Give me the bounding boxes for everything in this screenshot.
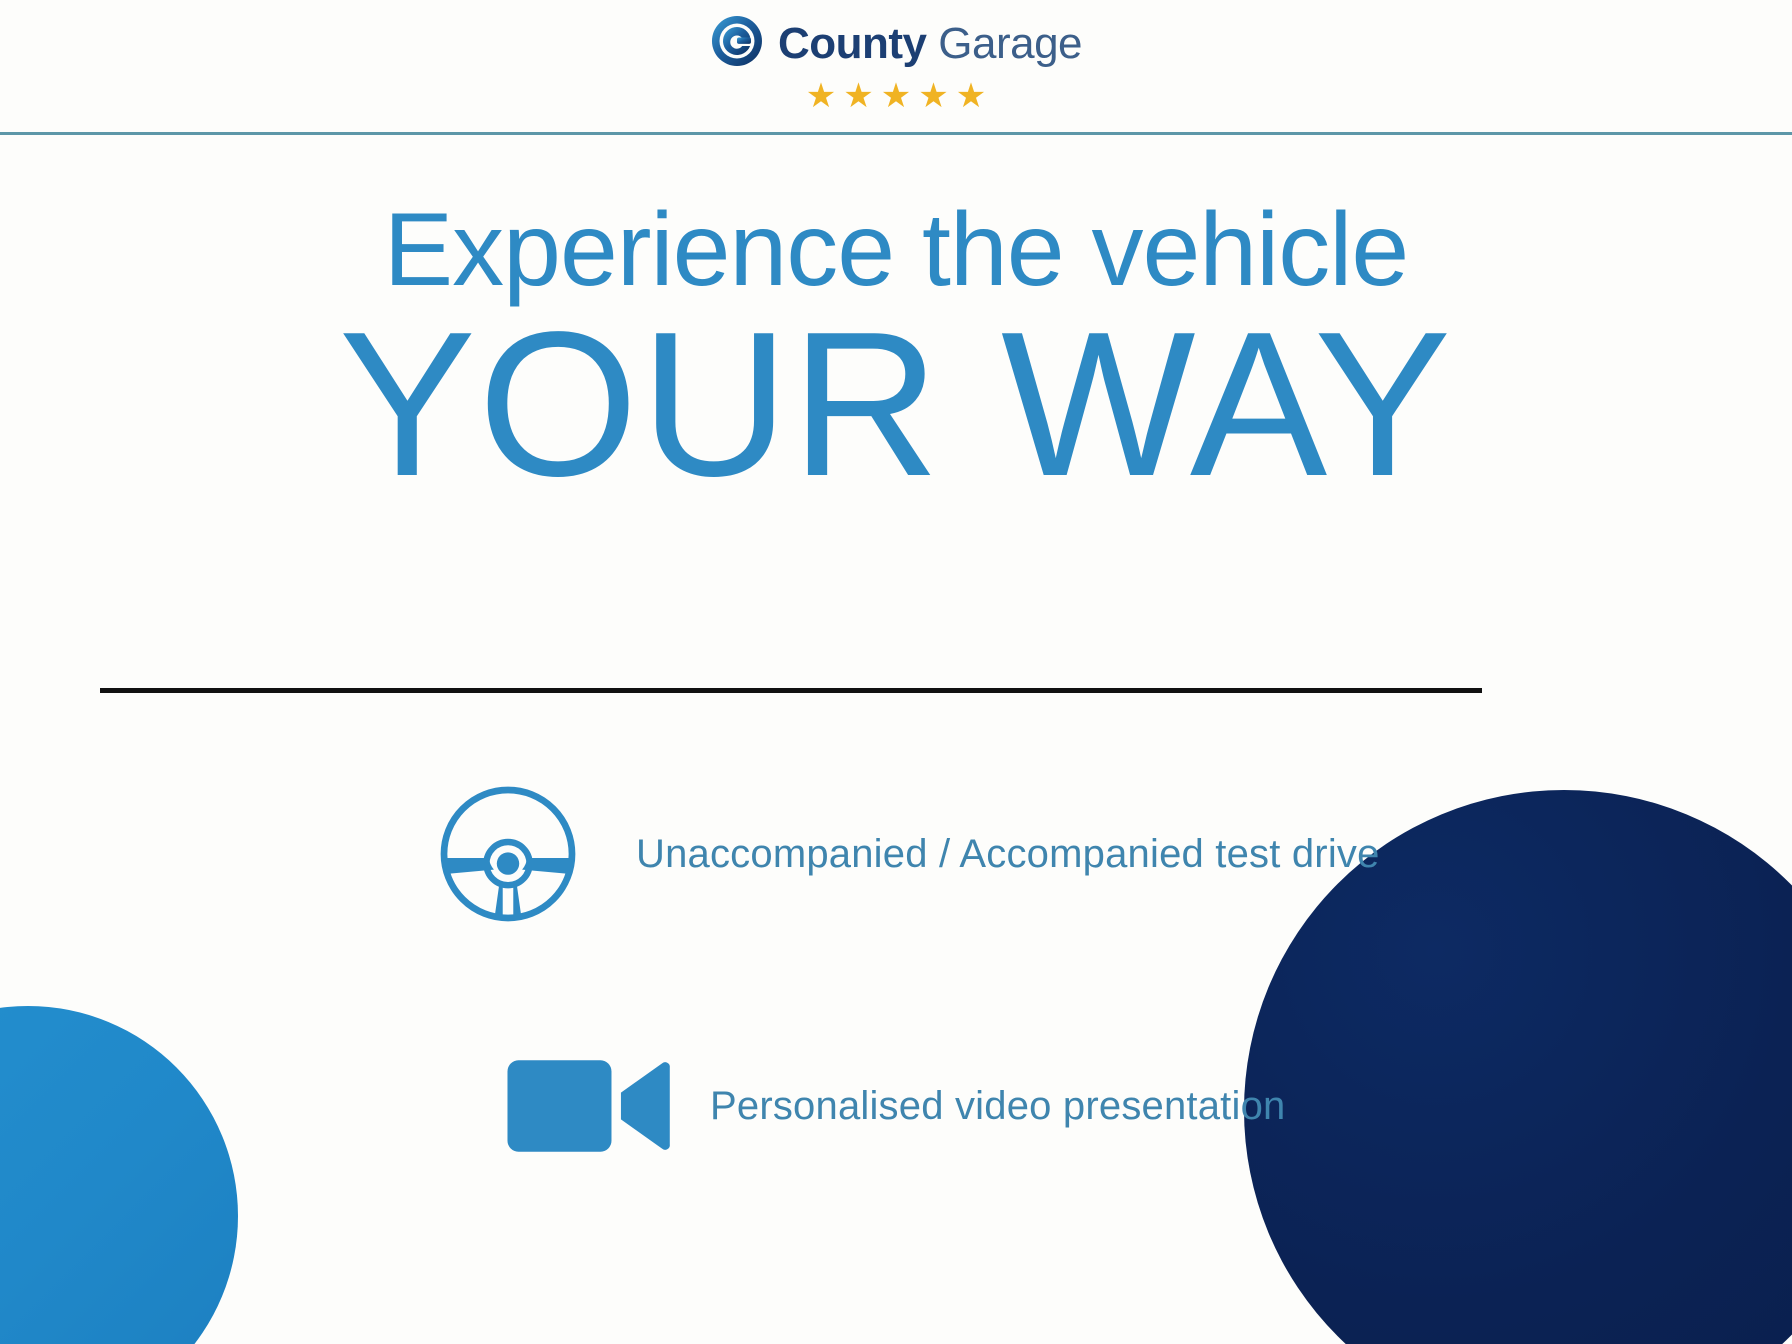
feature-label-video-presentation: Personalised video presentation <box>710 1084 1285 1129</box>
headline: Experience the vehicle YOUR WAY <box>0 196 1792 500</box>
feature-label-test-drive: Unaccompanied / Accompanied test drive <box>636 832 1380 877</box>
brand-row: County Garage <box>710 14 1082 73</box>
feature-item-test-drive: Unaccompanied / Accompanied test drive <box>0 770 1792 938</box>
headline-line-2: YOUR WAY <box>0 310 1792 500</box>
feature-item-video-presentation: Personalised video presentation <box>0 1050 1792 1162</box>
star-icon: ★ <box>956 79 986 113</box>
brand-name-light <box>927 19 939 68</box>
promo-banner: County Garage ★★★★★ Experience the vehic… <box>0 0 1792 1344</box>
steering-wheel-icon <box>424 770 592 938</box>
video-camera-icon <box>500 1050 682 1162</box>
star-rating: ★★★★★ <box>806 79 986 113</box>
header-divider <box>0 132 1792 135</box>
star-icon: ★ <box>918 79 948 113</box>
star-icon: ★ <box>806 79 836 113</box>
brand-name-light-word: Garage <box>938 19 1082 68</box>
brand-name-bold: County <box>778 19 927 68</box>
headline-divider <box>100 688 1482 693</box>
brand-name: County Garage <box>778 22 1082 66</box>
county-garage-circular-g-logo-icon <box>710 14 764 73</box>
headline-line-1: Experience the vehicle <box>0 196 1792 304</box>
brand-lockup: County Garage ★★★★★ <box>710 14 1082 113</box>
feature-list: Unaccompanied / Accompanied test drive P… <box>0 770 1792 1162</box>
star-icon: ★ <box>843 79 873 113</box>
header: County Garage ★★★★★ <box>0 0 1792 135</box>
star-icon: ★ <box>881 79 911 113</box>
